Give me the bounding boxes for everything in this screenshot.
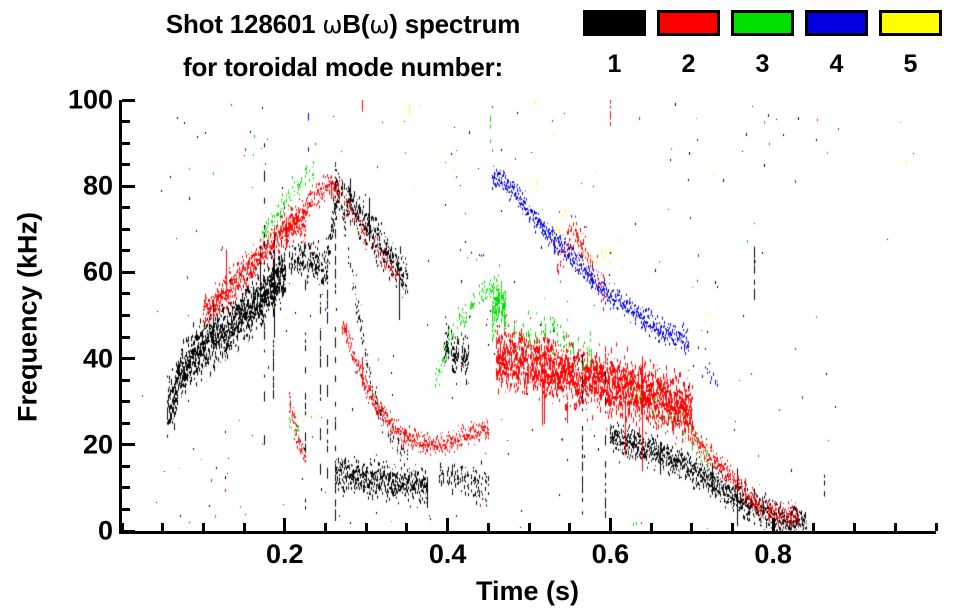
y-tick-minor bbox=[122, 508, 130, 511]
plot-area: 0204060801000.20.40.60.8 bbox=[119, 100, 936, 534]
y-tick-label: 60 bbox=[83, 257, 113, 288]
y-tick-label: 20 bbox=[83, 429, 113, 460]
x-tick-minor bbox=[690, 523, 693, 531]
legend-swatch-mode-2 bbox=[657, 10, 720, 36]
y-tick-minor bbox=[122, 465, 130, 468]
legend-item-mode-1[interactable]: 1 bbox=[583, 10, 646, 78]
y-tick-minor bbox=[122, 292, 130, 295]
title-mid: B( bbox=[342, 9, 369, 39]
legend-swatch-mode-5 bbox=[879, 10, 942, 36]
x-axis-title: Time (s) bbox=[119, 576, 936, 607]
x-tick-minor bbox=[405, 523, 408, 531]
legend-swatch-mode-1 bbox=[583, 10, 646, 36]
y-axis-title-text: Frequency (kHz) bbox=[13, 212, 44, 422]
x-tick-label: 0.4 bbox=[429, 539, 467, 570]
x-tick-minor bbox=[324, 523, 327, 531]
x-tick-minor bbox=[487, 523, 490, 531]
omega-symbol-2: ω bbox=[369, 11, 389, 39]
x-tick-minor bbox=[731, 523, 734, 531]
legend-label-mode-1: 1 bbox=[583, 50, 646, 78]
y-tick-label: 40 bbox=[83, 343, 113, 374]
y-tick-minor bbox=[122, 249, 130, 252]
y-tick-major bbox=[122, 357, 135, 360]
spectrogram-canvas bbox=[122, 100, 936, 531]
legend-item-mode-2[interactable]: 2 bbox=[657, 10, 720, 78]
x-tick-minor bbox=[812, 523, 815, 531]
y-tick-major bbox=[122, 99, 135, 102]
legend-item-mode-4[interactable]: 4 bbox=[805, 10, 868, 78]
x-tick-minor bbox=[935, 523, 938, 531]
x-tick-minor bbox=[853, 523, 856, 531]
y-tick-major bbox=[122, 271, 135, 274]
legend-swatch-mode-3 bbox=[731, 10, 794, 36]
x-tick-minor bbox=[365, 523, 368, 531]
y-tick-minor bbox=[122, 422, 130, 425]
x-tick-major bbox=[283, 518, 286, 531]
x-tick-label: 0.6 bbox=[592, 539, 630, 570]
x-tick-minor bbox=[568, 523, 571, 531]
title-prefix: Shot 128601 bbox=[166, 9, 323, 39]
x-tick-minor bbox=[528, 523, 531, 531]
legend-swatch-mode-4 bbox=[805, 10, 868, 36]
legend-label-mode-3: 3 bbox=[731, 50, 794, 78]
y-tick-label: 0 bbox=[98, 516, 113, 547]
y-tick-label: 100 bbox=[68, 85, 113, 116]
x-tick-minor bbox=[202, 523, 205, 531]
legend-label-mode-5: 5 bbox=[879, 50, 942, 78]
y-tick-minor bbox=[122, 314, 130, 317]
legend: 12345 bbox=[583, 0, 953, 92]
y-tick-major bbox=[122, 443, 135, 446]
x-tick-minor bbox=[243, 523, 246, 531]
y-tick-minor bbox=[122, 206, 130, 209]
x-tick-major bbox=[446, 518, 449, 531]
x-tick-minor bbox=[121, 523, 124, 531]
x-axis-title-text: Time (s) bbox=[476, 576, 579, 606]
x-tick-major bbox=[609, 518, 612, 531]
chart-title-line-2: for toroidal mode number: bbox=[108, 50, 578, 84]
legend-item-mode-5[interactable]: 5 bbox=[879, 10, 942, 78]
y-axis-title: Frequency (kHz) bbox=[8, 100, 48, 534]
omega-symbol-1: ω bbox=[322, 11, 342, 39]
x-tick-major bbox=[772, 518, 775, 531]
x-tick-label: 0.8 bbox=[754, 539, 792, 570]
y-tick-major bbox=[122, 530, 135, 533]
y-tick-minor bbox=[122, 228, 130, 231]
y-tick-minor bbox=[122, 142, 130, 145]
y-tick-minor bbox=[122, 120, 130, 123]
chart-title-line-1: Shot 128601 ωB(ω) spectrum bbox=[108, 6, 578, 42]
legend-item-mode-3[interactable]: 3 bbox=[731, 10, 794, 78]
x-tick-minor bbox=[161, 523, 164, 531]
y-tick-minor bbox=[122, 486, 130, 489]
y-tick-major bbox=[122, 185, 135, 188]
legend-label-mode-4: 4 bbox=[805, 50, 868, 78]
y-tick-minor bbox=[122, 379, 130, 382]
y-tick-minor bbox=[122, 400, 130, 403]
x-tick-minor bbox=[894, 523, 897, 531]
y-tick-minor bbox=[122, 336, 130, 339]
x-tick-label: 0.2 bbox=[266, 539, 304, 570]
y-tick-label: 80 bbox=[83, 171, 113, 202]
x-tick-minor bbox=[650, 523, 653, 531]
y-tick-minor bbox=[122, 163, 130, 166]
title-suffix: ) spectrum bbox=[389, 9, 520, 39]
legend-label-mode-2: 2 bbox=[657, 50, 720, 78]
figure-root: Shot 128601 ωB(ω) spectrum for toroidal … bbox=[0, 0, 963, 615]
